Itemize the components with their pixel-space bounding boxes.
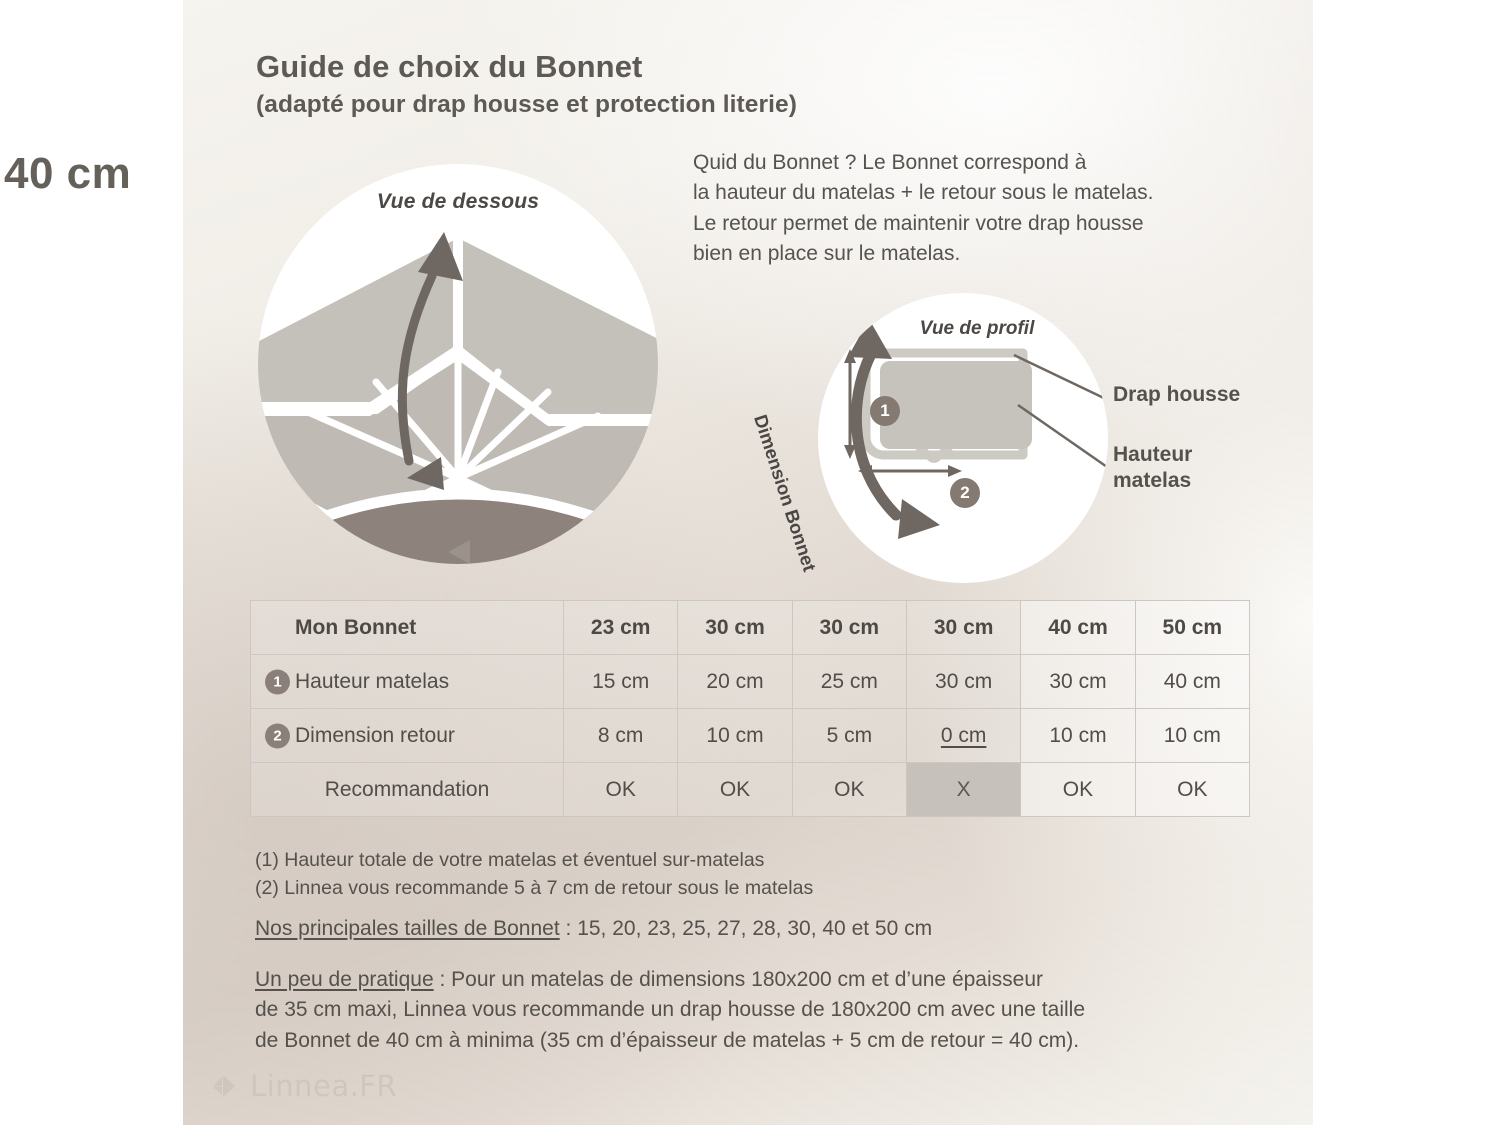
- practice-paragraph: Un peu de pratique : Pour un matelas de …: [255, 965, 1265, 1056]
- bottom-view-caption: Vue de dessous: [258, 190, 658, 214]
- bottom-view-measure-label: 40 cm: [4, 149, 131, 199]
- title-line-2: (adapté pour drap housse et protection l…: [256, 90, 1016, 120]
- table-row-label-mon-bonnet: Mon Bonnet: [251, 601, 564, 655]
- profile-badge-1: 1: [870, 396, 900, 426]
- table-row-retour: 2 Dimension retour 8 cm 10 cm 5 cm 0 cm …: [251, 709, 1250, 763]
- cell-reco-4: OK: [1021, 763, 1135, 817]
- row-label-text-retour: Dimension retour: [295, 724, 455, 747]
- practice-line-3: de Bonnet de 40 cm à minima (35 cm d’épa…: [255, 1026, 1265, 1056]
- cell-bonnet-3: 30 cm: [906, 601, 1020, 655]
- dimension-bonnet-arc-label: Dimension Bonnet: [749, 412, 820, 574]
- cell-tuck-2: 5 cm: [792, 709, 906, 763]
- cell-height-4: 30 cm: [1021, 655, 1135, 709]
- cell-tuck-5: 10 cm: [1135, 709, 1249, 763]
- profile-view-diagram: Vue de profil: [818, 293, 1108, 583]
- linnea-diamond-icon: [210, 1073, 240, 1099]
- bottom-view-illustration: [258, 164, 658, 564]
- cell-tuck-3: 0 cm: [906, 709, 1020, 763]
- cell-reco-5: OK: [1135, 763, 1249, 817]
- cell-height-1: 20 cm: [678, 655, 792, 709]
- callout-hauteur-line-1: Hauteur: [1113, 442, 1192, 468]
- linnea-logo[interactable]: Linnea.FR: [210, 1069, 397, 1103]
- practice-line-1: Un peu de pratique : Pour un matelas de …: [255, 965, 1265, 995]
- table-row-label-retour: 2 Dimension retour: [251, 709, 564, 763]
- callout-hauteur-line-2: matelas: [1113, 468, 1192, 494]
- cell-tuck-4: 10 cm: [1021, 709, 1135, 763]
- infographic-page: Guide de choix du Bonnet (adapté pour dr…: [0, 0, 1500, 1125]
- profile-badge-2: 2: [950, 478, 980, 508]
- cell-height-2: 25 cm: [792, 655, 906, 709]
- bonnet-size-table: Mon Bonnet 23 cm 30 cm 30 cm 30 cm 40 cm…: [250, 600, 1250, 817]
- table-row-hauteur: 1 Hauteur matelas 15 cm 20 cm 25 cm 30 c…: [251, 655, 1250, 709]
- practice-line-2: de 35 cm maxi, Linnea vous recommande un…: [255, 995, 1265, 1025]
- cell-bonnet-4: 40 cm: [1021, 601, 1135, 655]
- sizes-label: Nos principales tailles de Bonnet: [255, 917, 560, 940]
- table-row-header: Mon Bonnet 23 cm 30 cm 30 cm 30 cm 40 cm…: [251, 601, 1250, 655]
- practice-line-1-rest: : Pour un matelas de dimensions 180x200 …: [434, 968, 1043, 991]
- intro-line-2: la hauteur du matelas + le retour sous l…: [693, 178, 1268, 208]
- footnotes: (1) Hauteur totale de votre matelas et é…: [255, 846, 1205, 903]
- cell-reco-2: OK: [792, 763, 906, 817]
- cell-bonnet-1: 30 cm: [678, 601, 792, 655]
- footnote-2: (2) Linnea vous recommande 5 à 7 cm de r…: [255, 874, 1205, 902]
- table-row-recommandation: Recommandation OK OK OK X OK OK: [251, 763, 1250, 817]
- content-layer: Guide de choix du Bonnet (adapté pour dr…: [0, 0, 1500, 1125]
- profile-view-caption: Vue de profil: [818, 318, 1108, 340]
- page-title: Guide de choix du Bonnet (adapté pour dr…: [256, 48, 1016, 120]
- footnote-1: (1) Hauteur totale de votre matelas et é…: [255, 846, 1205, 874]
- cell-height-5: 40 cm: [1135, 655, 1249, 709]
- cell-bonnet-2: 30 cm: [792, 601, 906, 655]
- cell-bonnet-5: 50 cm: [1135, 601, 1249, 655]
- sizes-values: : 15, 20, 23, 25, 27, 28, 30, 40 et 50 c…: [560, 917, 932, 940]
- table-row-label-hauteur: 1 Hauteur matelas: [251, 655, 564, 709]
- cell-height-3: 30 cm: [906, 655, 1020, 709]
- intro-paragraph: Quid du Bonnet ? Le Bonnet correspond à …: [693, 148, 1268, 270]
- intro-line-4: bien en place sur le matelas.: [693, 239, 1268, 269]
- bottom-view-diagram: Vue de dessous: [258, 164, 658, 564]
- row-badge-2: 2: [265, 723, 290, 748]
- cell-tuck-3-value: 0 cm: [941, 724, 987, 747]
- sizes-line: Nos principales tailles de Bonnet : 15, …: [255, 917, 1235, 941]
- linnea-logo-text: Linnea.FR: [250, 1069, 397, 1103]
- table-body: Mon Bonnet 23 cm 30 cm 30 cm 30 cm 40 cm…: [251, 601, 1250, 817]
- intro-line-1: Quid du Bonnet ? Le Bonnet correspond à: [693, 148, 1268, 178]
- cell-reco-3: X: [906, 763, 1020, 817]
- cell-tuck-1: 10 cm: [678, 709, 792, 763]
- cell-reco-1: OK: [678, 763, 792, 817]
- practice-label: Un peu de pratique: [255, 968, 434, 991]
- cell-height-0: 15 cm: [564, 655, 678, 709]
- cell-tuck-0: 8 cm: [564, 709, 678, 763]
- row-label-text-hauteur: Hauteur matelas: [295, 670, 449, 693]
- intro-line-3: Le retour permet de maintenir votre drap…: [693, 209, 1268, 239]
- row-badge-1: 1: [265, 669, 290, 694]
- callout-drap-housse: Drap housse: [1113, 383, 1240, 407]
- cell-bonnet-0: 23 cm: [564, 601, 678, 655]
- table-row-label-recommandation: Recommandation: [251, 763, 564, 817]
- title-line-1: Guide de choix du Bonnet: [256, 48, 1016, 86]
- callout-hauteur-matelas: Hauteur matelas: [1113, 442, 1192, 495]
- cell-reco-0: OK: [564, 763, 678, 817]
